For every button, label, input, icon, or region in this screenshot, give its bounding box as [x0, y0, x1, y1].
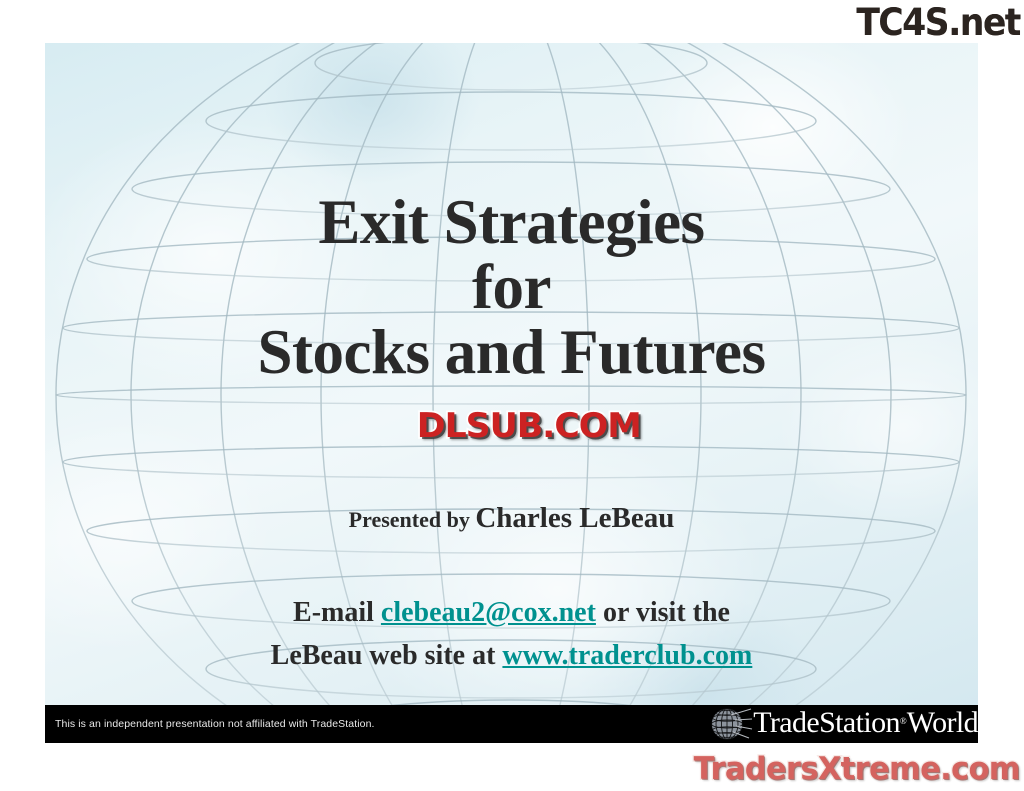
- registered-mark-icon: ®: [900, 716, 907, 726]
- email-suffix-label: or visit the: [596, 597, 730, 628]
- brand-part-world: World: [907, 706, 978, 739]
- slide-footer-bar: This is an independent presentation not …: [45, 705, 978, 743]
- title-line-2: for: [45, 255, 978, 320]
- website-prefix-label: LeBeau web site at: [271, 640, 503, 671]
- contact-line-website: LeBeau web site at www.traderclub.com: [45, 634, 978, 677]
- title-line-1: Exit Strategies: [45, 190, 978, 255]
- presenter-line: Presented by Charles LeBeau: [45, 502, 978, 535]
- presented-by-label: Presented by: [349, 507, 470, 532]
- presenter-name: Charles LeBeau: [475, 502, 674, 534]
- tc4s-watermark-text: TC4S.net: [856, 4, 1020, 41]
- dlsub-watermark-overlay: DLSUB.COM: [417, 409, 641, 443]
- title-line-3: Stocks and Futures: [45, 320, 978, 385]
- dlsub-watermark-text: DLSUB.COM: [417, 406, 641, 446]
- tc4s-watermark-logo: TC4S.net: [828, 0, 1024, 44]
- tradersxtreme-watermark-logo: TradersXtreme.com: [690, 748, 1024, 791]
- footer-disclaimer-text: This is an independent presentation not …: [55, 718, 375, 730]
- tradersxtreme-watermark-text: TradersXtreme.com: [694, 754, 1020, 785]
- presentation-slide: Exit Strategies for Stocks and Futures D…: [45, 43, 978, 743]
- slide-title: Exit Strategies for Stocks and Futures: [45, 190, 978, 385]
- brand-part-tradestation: TradeStation: [753, 706, 900, 739]
- website-link[interactable]: www.traderclub.com: [502, 640, 752, 671]
- contact-block: E-mail clebeau2@cox.net or visit the LeB…: [45, 591, 978, 678]
- tradestationworld-logo: TradeStation®World: [701, 705, 978, 743]
- email-prefix-label: E-mail: [293, 597, 381, 628]
- contact-line-email: E-mail clebeau2@cox.net or visit the: [45, 591, 978, 634]
- email-link[interactable]: clebeau2@cox.net: [381, 597, 596, 628]
- globe-icon: [701, 705, 753, 743]
- tradestationworld-wordmark: TradeStation®World: [753, 708, 978, 738]
